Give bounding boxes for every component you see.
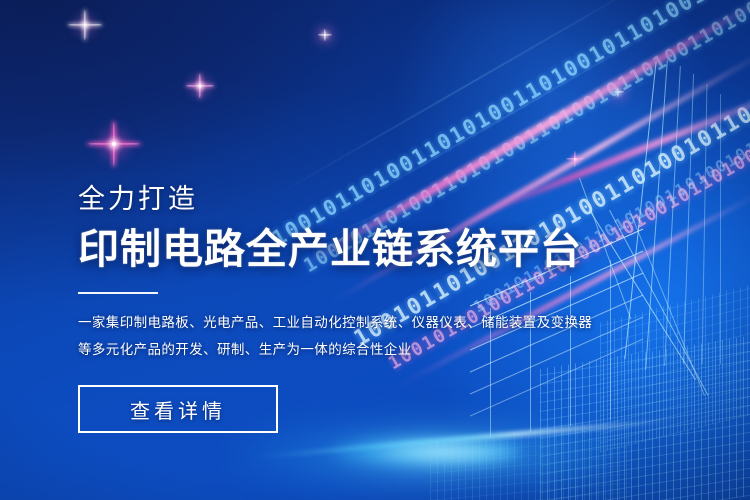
hero-description: 一家集印制电路板、光电产品、工业自动化控制系统、仪器仪表、储能装置及变换器 等多…: [78, 309, 618, 363]
view-details-button[interactable]: 查看详情: [78, 385, 278, 433]
hero-eyebrow: 全力打造: [78, 186, 618, 213]
page-title: 印制电路全产业链系统平台: [78, 227, 618, 271]
title-divider: [78, 292, 158, 294]
hero-description-line-2: 等多元化产品的开发、研制、生产为一体的综合性企业: [78, 336, 618, 363]
hero-content: 全力打造 印制电路全产业链系统平台 一家集印制电路板、光电产品、工业自动化控制系…: [78, 186, 618, 433]
hero-banner: 1001011010011010100110100101101001101001…: [0, 0, 750, 500]
hero-description-line-1: 一家集印制电路板、光电产品、工业自动化控制系统、仪器仪表、储能装置及变换器: [78, 309, 618, 336]
